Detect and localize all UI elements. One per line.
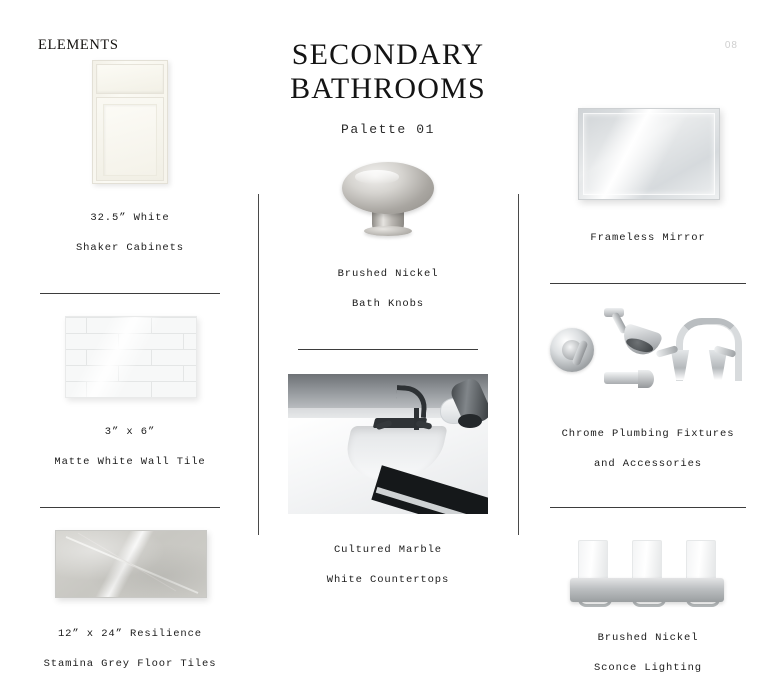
caption-line: Matte White Wall Tile xyxy=(22,455,238,470)
caption-sconce-lighting: Brushed Nickel Sconce Lighting xyxy=(540,616,756,691)
column-left: 32.5” White Shaker Cabinets xyxy=(22,60,238,687)
caption-line: 3” x 6” xyxy=(22,425,238,440)
caption-line: Shaker Cabinets xyxy=(22,241,238,256)
column-divider-right xyxy=(518,194,519,535)
caption-countertops: Cultured Marble White Countertops xyxy=(280,528,496,603)
item-bath-knobs: Brushed Nickel Bath Knobs xyxy=(280,160,496,350)
brushed-nickel-sconce xyxy=(562,526,732,608)
item-divider xyxy=(40,507,220,508)
caption-line: Frameless Mirror xyxy=(540,231,756,246)
caption-line: Bath Knobs xyxy=(280,297,496,312)
caption-line: Sconce Lighting xyxy=(540,661,756,676)
item-divider xyxy=(298,349,478,350)
floor-tile-vein xyxy=(56,531,206,597)
caption-wall-tile: 3” x 6” Matte White Wall Tile xyxy=(22,410,238,485)
caption-line: 32.5” White xyxy=(22,211,238,226)
item-divider xyxy=(550,507,746,508)
item-countertops: Cultured Marble White Countertops xyxy=(280,374,496,603)
matte-white-subway-tile-swatch xyxy=(65,316,195,398)
item-floor-tile: 12” x 24” Resilience Stamina Grey Floor … xyxy=(22,530,238,687)
caption-line: Brushed Nickel xyxy=(540,631,756,646)
item-plumbing-fixtures: Chrome Plumbing Fixtures and Accessories xyxy=(540,302,756,508)
caption-line: and Accessories xyxy=(540,457,756,472)
caption-plumbing-fixtures: Chrome Plumbing Fixtures and Accessories xyxy=(540,412,756,487)
item-wall-tile: 3” x 6” Matte White Wall Tile xyxy=(22,316,238,508)
cultured-marble-countertop-photo xyxy=(288,374,488,514)
caption-line: Brushed Nickel xyxy=(280,267,496,282)
brushed-nickel-knob xyxy=(334,160,442,238)
column-middle: Brushed Nickel Bath Knobs xyxy=(280,160,496,603)
caption-mirror: Frameless Mirror xyxy=(540,216,756,261)
column-right: Frameless Mirror xyxy=(540,108,756,691)
item-divider xyxy=(550,283,746,284)
caption-line: Cultured Marble xyxy=(280,543,496,558)
frameless-mirror xyxy=(578,108,718,200)
caption-line: 12” x 24” Resilience xyxy=(22,627,238,642)
item-sconce-lighting: Brushed Nickel Sconce Lighting xyxy=(540,526,756,691)
item-divider xyxy=(40,293,220,294)
caption-shaker-cabinets: 32.5” White Shaker Cabinets xyxy=(22,196,238,271)
caption-line: White Countertops xyxy=(280,573,496,588)
white-shaker-cabinet-swatch xyxy=(92,60,168,184)
grey-floor-tile-swatch xyxy=(55,530,205,598)
chrome-plumbing-fixtures xyxy=(546,302,746,402)
caption-line: Chrome Plumbing Fixtures xyxy=(540,427,756,442)
page-title-line1: SECONDARY xyxy=(292,38,485,71)
column-divider-left xyxy=(258,194,259,535)
caption-bath-knobs: Brushed Nickel Bath Knobs xyxy=(280,252,496,327)
item-shaker-cabinets: 32.5” White Shaker Cabinets xyxy=(22,60,238,294)
caption-floor-tile: 12” x 24” Resilience Stamina Grey Floor … xyxy=(22,612,238,687)
design-board: ELEMENTS 08 SECONDARY BATHROOMS Palette … xyxy=(0,0,776,600)
item-mirror: Frameless Mirror xyxy=(540,108,756,284)
caption-line: Stamina Grey Floor Tiles xyxy=(22,657,238,672)
